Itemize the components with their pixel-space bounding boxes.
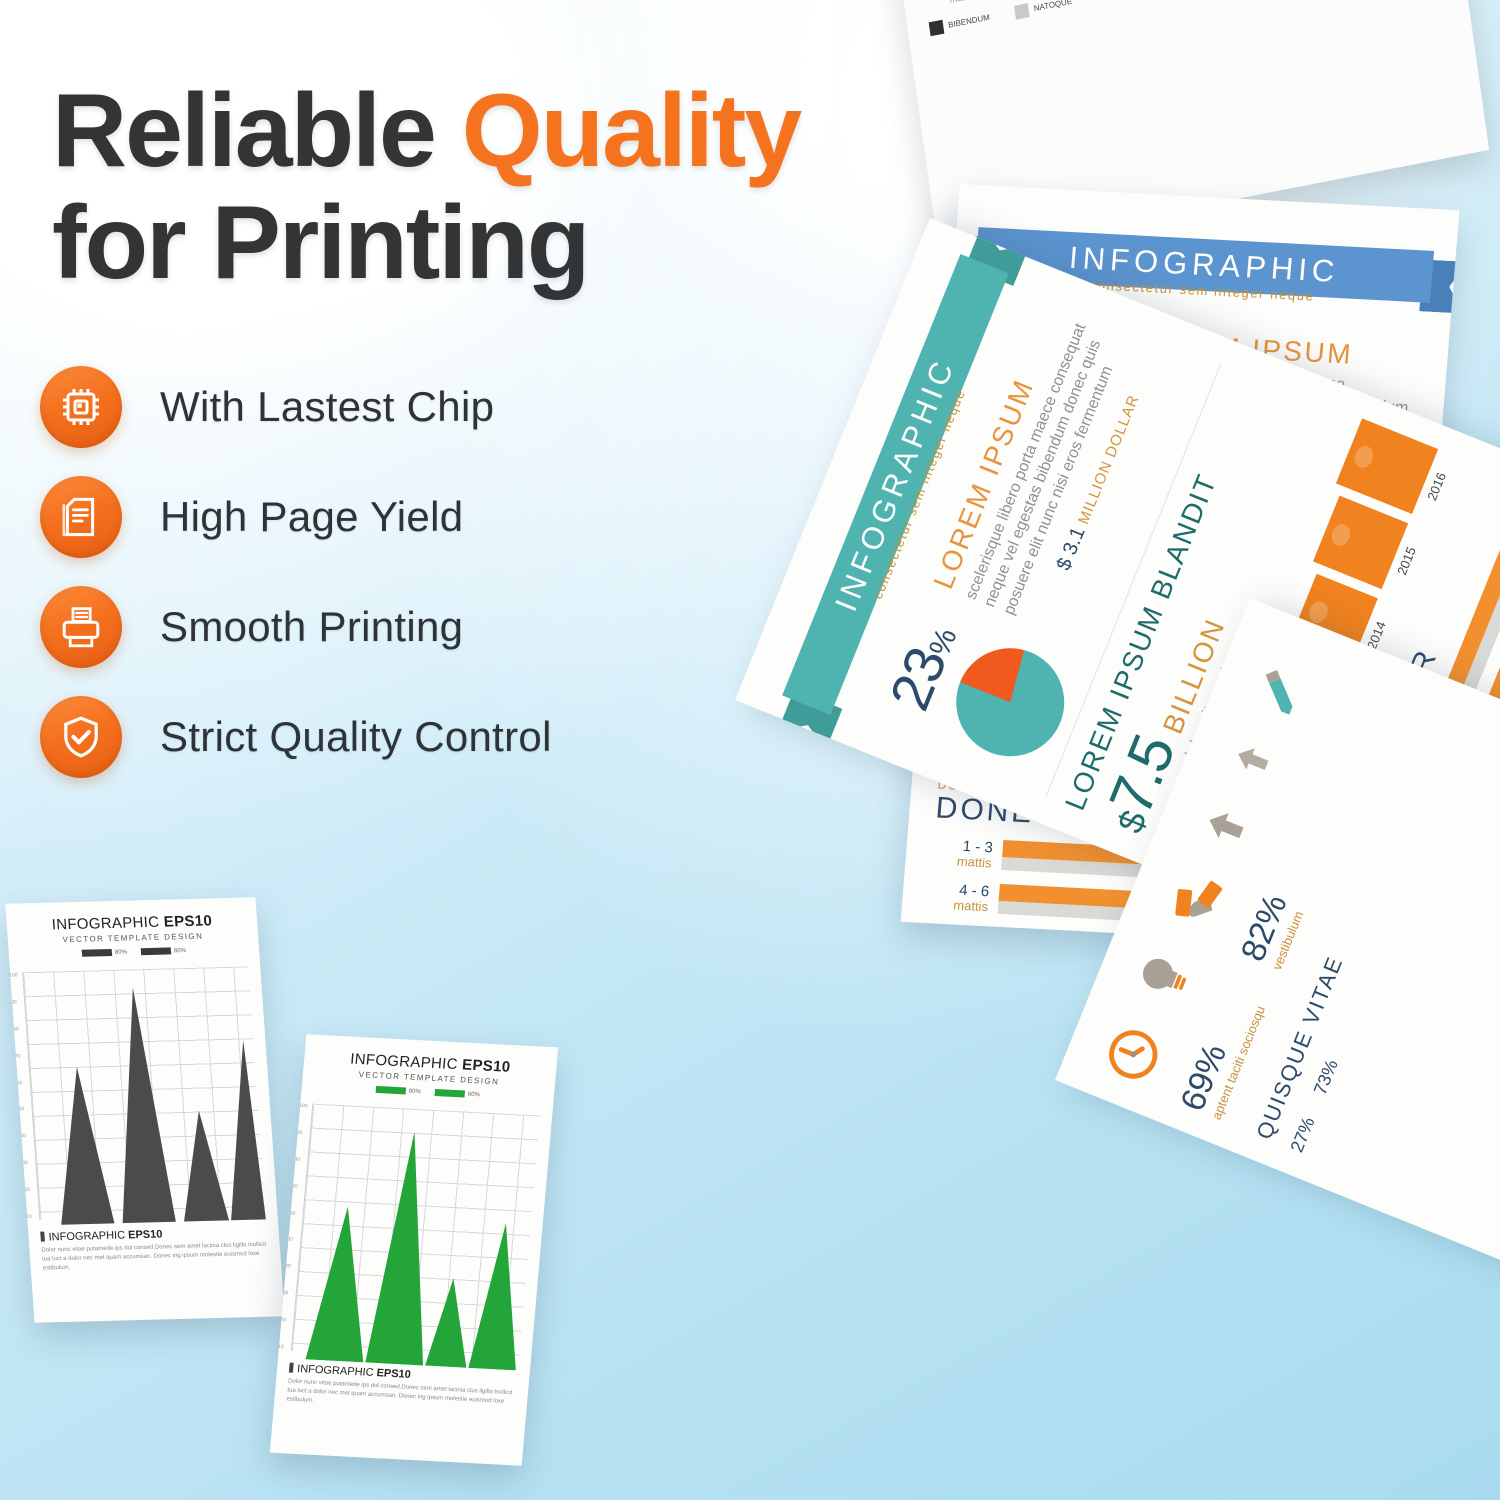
eps-key-label: 80% xyxy=(409,1088,422,1095)
teal-pct-82: 82% vestibulum xyxy=(1234,889,1310,972)
eps-key-swatch xyxy=(435,1089,466,1098)
eps-y-tick: 90 xyxy=(297,1130,306,1136)
feature-label-chip: With Lastest Chip xyxy=(160,383,494,431)
eps-y-tick: 10 xyxy=(26,1214,35,1220)
eps-y-tick: 50 xyxy=(287,1237,296,1243)
feature-item-quality: Strict Quality Control xyxy=(40,682,700,792)
teal-pie-chart xyxy=(940,632,1081,773)
eps-gray-plot: 100908070605040302010 xyxy=(22,966,265,1219)
eps-key-swatch xyxy=(141,947,172,955)
eps-y-tick: 80 xyxy=(13,1026,22,1032)
eps-y-tick: 100 xyxy=(299,1103,308,1109)
eps-y-tick: 60 xyxy=(17,1080,26,1086)
eps-y-tick: 100 xyxy=(9,972,18,978)
feature-item-chip: With Lastest Chip xyxy=(40,352,700,462)
eps-gray-keys: 80% 60% xyxy=(21,945,248,958)
top-sheet-bar-label: 10 - 12mattis xyxy=(924,0,974,10)
eps-y-tick: 40 xyxy=(285,1264,294,1270)
eps-key-swatch xyxy=(376,1086,407,1095)
poster-canvas: Reliable Quality for Printing With Laste… xyxy=(0,0,1500,1500)
eps-y-tick: 70 xyxy=(292,1183,301,1189)
eps-y-tick: 70 xyxy=(15,1053,24,1059)
printer-icon xyxy=(57,603,105,651)
printer-icon-badge xyxy=(40,586,122,668)
feature-list: With Lastest Chip High Page Yield xyxy=(40,352,700,792)
eps-y-tick: 30 xyxy=(282,1290,291,1296)
eps-y-tick: 40 xyxy=(20,1133,29,1139)
headline-line2: for Printing xyxy=(52,190,932,296)
top-legend-a: BIBENDUM xyxy=(948,13,991,30)
eps-y-tick: 60 xyxy=(289,1210,298,1216)
donec-bar-label: 1 - 3mattis xyxy=(929,838,993,871)
shield-check-icon xyxy=(57,713,105,761)
feature-item-printing: Smooth Printing xyxy=(40,572,700,682)
eps-gray-area-series xyxy=(23,966,266,1225)
eps-key-label: 80% xyxy=(115,949,127,955)
teal-pct-69: 69% aptent taciti sociosqu xyxy=(1173,989,1268,1122)
arrow-up-small-icon xyxy=(1217,727,1288,791)
hand-card-icon xyxy=(1158,861,1234,937)
headline-line1-dark: Reliable xyxy=(52,73,462,189)
eps-y-tick: 80 xyxy=(294,1156,303,1162)
eps-y-tick: 10 xyxy=(278,1344,287,1350)
teal-pct-27: 27% xyxy=(1286,1114,1319,1155)
top-legend-b: NATOQUE xyxy=(1033,0,1072,13)
lightbulb-icon xyxy=(1127,939,1203,1015)
feature-label-printing: Smooth Printing xyxy=(160,603,463,651)
eps-green-plot: 100908070605040302010 xyxy=(291,1104,540,1363)
eps-gray-foot-paragraph: Dolor nunc vitae putamede ips dol consed… xyxy=(41,1241,269,1274)
eps-y-tick: 20 xyxy=(280,1317,289,1323)
chip-icon-badge xyxy=(40,366,122,448)
chip-icon xyxy=(57,383,105,431)
eps-y-tick: 30 xyxy=(22,1160,31,1166)
eps-chart-sheet-green: INFOGRAPHIC EPS10 VECTOR TEMPLATE DESIGN… xyxy=(270,1034,558,1466)
eps-chart-sheet-gray: INFOGRAPHIC EPS10 VECTOR TEMPLATE DESIGN… xyxy=(5,897,284,1323)
eps-green-footer: INFOGRAPHIC EPS10 Dolor nunc vitae putam… xyxy=(286,1363,517,1417)
pencil-icon xyxy=(1244,655,1317,725)
eps-y-tick: 20 xyxy=(24,1187,33,1193)
donec-bar-label: 4 - 6mattis xyxy=(926,881,990,914)
eps-gray-footer: INFOGRAPHIC EPS10 Dolor nunc vitae putam… xyxy=(40,1226,269,1274)
arrow-up-icon xyxy=(1190,794,1261,858)
feature-item-page-yield: High Page Yield xyxy=(40,462,700,572)
feature-label-page-yield: High Page Yield xyxy=(160,493,463,541)
document-pages-icon-badge xyxy=(40,476,122,558)
eps-y-tick: 90 xyxy=(11,999,20,1005)
eps-y-tick: 50 xyxy=(18,1106,27,1112)
eps-key-label: 60% xyxy=(468,1091,481,1098)
feature-label-quality: Strict Quality Control xyxy=(160,713,552,761)
eps-green-area-series xyxy=(291,1104,540,1371)
eps-key-label: 60% xyxy=(174,948,186,954)
teal-pct-73: 73% xyxy=(1310,1057,1343,1098)
eps-key-swatch xyxy=(82,949,113,957)
headline-line1-accent: Quality xyxy=(462,73,801,189)
shield-check-icon-badge xyxy=(40,696,122,778)
donec-bar-label: 7 - 9mattis xyxy=(922,925,986,948)
document-pages-icon xyxy=(57,493,105,541)
page-title: Reliable Quality for Printing xyxy=(52,78,932,296)
clock-icon xyxy=(1096,1017,1172,1093)
